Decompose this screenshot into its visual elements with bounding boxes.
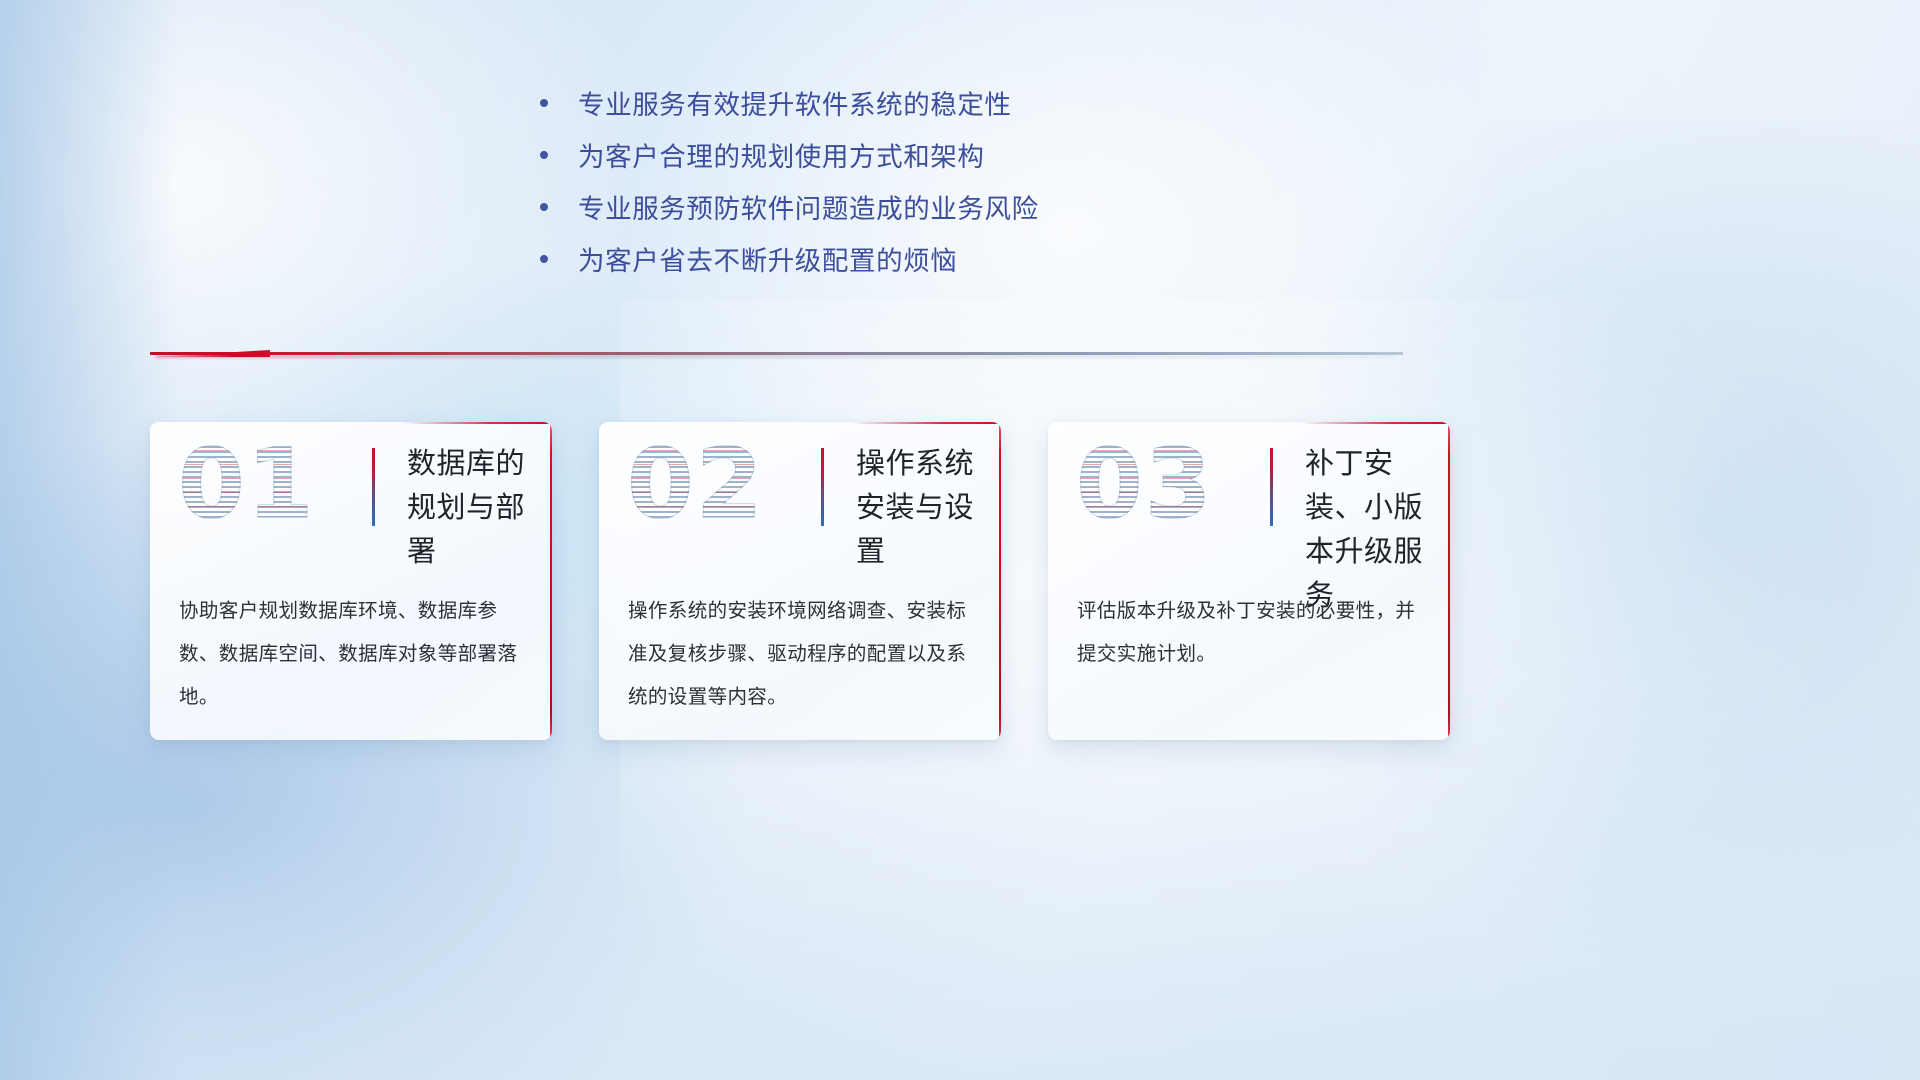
bullet-dot-icon <box>540 140 578 159</box>
bullet-dot-icon <box>540 192 578 211</box>
service-card-02[interactable]: 02 操作系统安装与设置 操作系统的安装环境网络调查、安装标准及复核步骤、驱动程… <box>599 422 1001 740</box>
card-header: 03 补丁安装、小版本升级服务 <box>1048 422 1450 572</box>
divider-shadow <box>156 355 1396 358</box>
divider-line <box>150 352 1403 355</box>
card-title-accent-bar <box>372 448 375 526</box>
list-item: 为客户合理的规划使用方式和架构 <box>540 140 1160 192</box>
list-item: 专业服务有效提升软件系统的稳定性 <box>540 88 1160 140</box>
card-number-ghost: 02 <box>627 436 765 532</box>
card-body-text: 评估版本升级及补丁安装的必要性，并提交实施计划。 <box>1077 590 1425 676</box>
card-title-accent-bar <box>821 448 824 526</box>
card-header: 01 数据库的规划与部署 <box>150 422 552 572</box>
card-body-text: 协助客户规划数据库环境、数据库参数、数据库空间、数据库对象等部署落地。 <box>179 590 527 719</box>
card-title-accent-bar <box>1270 448 1273 526</box>
bullet-dot-icon <box>540 88 578 107</box>
card-body-text: 操作系统的安装环境网络调查、安装标准及复核步骤、驱动程序的配置以及系统的设置等内… <box>628 590 976 719</box>
card-number-ghost: 03 <box>1076 436 1214 532</box>
bullet-text: 专业服务有效提升软件系统的稳定性 <box>578 88 1012 122</box>
card-number-ghost: 01 <box>178 436 316 532</box>
section-divider <box>150 350 1403 359</box>
bullet-text: 为客户省去不断升级配置的烦恼 <box>578 244 957 278</box>
bullet-text: 为客户合理的规划使用方式和架构 <box>578 140 985 174</box>
card-title: 操作系统安装与设置 <box>856 442 991 574</box>
card-header: 02 操作系统安装与设置 <box>599 422 1001 572</box>
benefits-bullet-list: 专业服务有效提升软件系统的稳定性 为客户合理的规划使用方式和架构 专业服务预防软… <box>540 88 1160 296</box>
bullet-text: 专业服务预防软件问题造成的业务风险 <box>578 192 1039 226</box>
service-card-03[interactable]: 03 补丁安装、小版本升级服务 评估版本升级及补丁安装的必要性，并提交实施计划。 <box>1048 422 1450 740</box>
service-card-row: 01 数据库的规划与部署 协助客户规划数据库环境、数据库参数、数据库空间、数据库… <box>150 422 1450 742</box>
bullet-dot-icon <box>540 244 578 263</box>
card-title: 数据库的规划与部署 <box>407 442 542 574</box>
list-item: 为客户省去不断升级配置的烦恼 <box>540 244 1160 296</box>
list-item: 专业服务预防软件问题造成的业务风险 <box>540 192 1160 244</box>
service-card-01[interactable]: 01 数据库的规划与部署 协助客户规划数据库环境、数据库参数、数据库空间、数据库… <box>150 422 552 740</box>
